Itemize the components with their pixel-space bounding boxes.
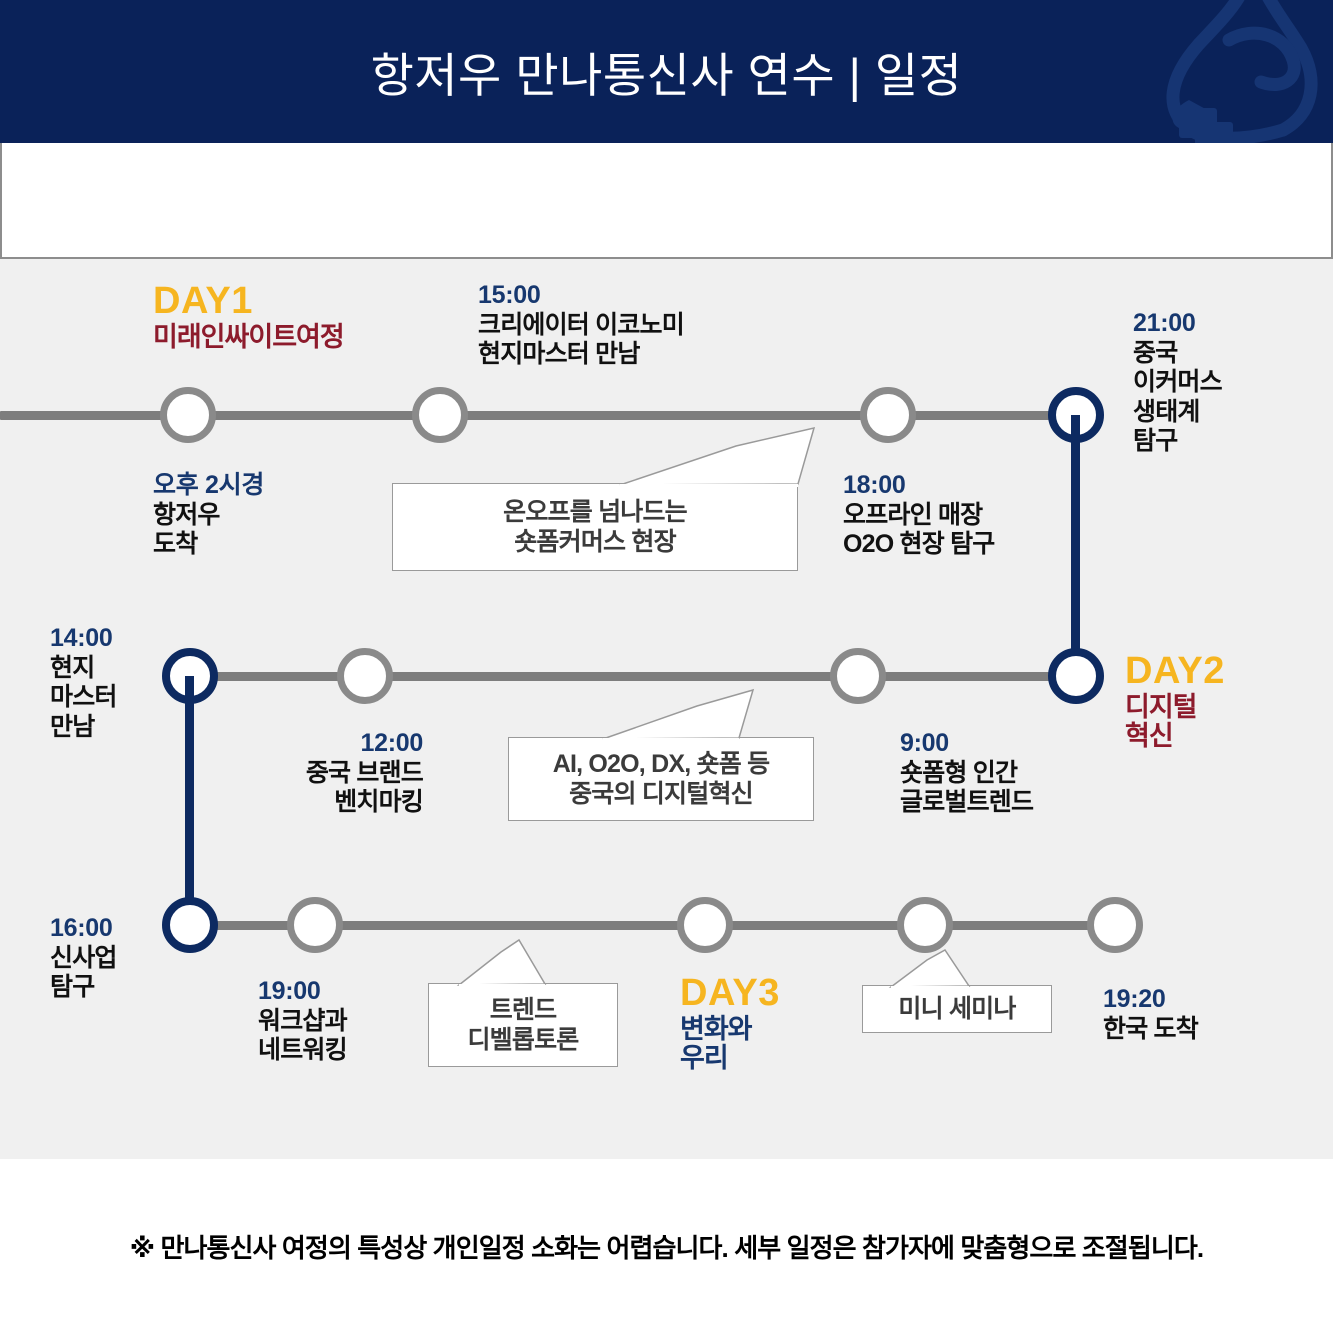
event-desc-line: 항저우 xyxy=(153,501,264,531)
page-title: 항저우 만나통신사 연수 | 일정 xyxy=(0,0,1333,143)
connector-row1-row2 xyxy=(1071,415,1080,676)
event-time: 21:00 xyxy=(1133,309,1222,339)
day2-subtitle-line1: 디지털 xyxy=(1125,693,1225,723)
event-desc-line: 중국 브랜드 xyxy=(155,759,423,789)
event-block-e4: 21:00 중국 이커머스 생태계 탐구 xyxy=(1133,309,1222,457)
row3-node-2[interactable] xyxy=(287,897,343,953)
footer-note: ※ 만나통신사 여정의 특성상 개인일정 소화는 어렵습니다. 세부 일정은 참… xyxy=(130,1228,1203,1265)
callout-c2: AI, O2O, DX, 숏폼 등 중국의 디지털혁신 xyxy=(508,737,814,821)
event-desc-line: 글로벌트렌드 xyxy=(900,788,1033,818)
day3-label: DAY3 변화와 우리 xyxy=(680,973,780,1074)
event-desc-line: 도착 xyxy=(153,530,264,560)
timeline-canvas: DAY1 미래인싸이트여정 오후 2시경 항저우 도착 15:00 크리에이터 … xyxy=(0,259,1333,1159)
event-block-e7: 9:00 숏폼형 인간 글로벌트렌드 xyxy=(900,729,1033,818)
event-desc-line: 중국 xyxy=(1133,339,1222,369)
event-time: 16:00 xyxy=(50,914,117,944)
header-spacer-band xyxy=(0,143,1333,259)
callout-c1: 온오프를 넘나드는 숏폼커머스 현장 xyxy=(392,483,798,571)
row2-node-4[interactable] xyxy=(1048,648,1104,704)
day3-subtitle-line2: 우리 xyxy=(680,1044,780,1074)
row1-node-2[interactable] xyxy=(412,387,468,443)
event-time: 오후 2시경 xyxy=(153,471,264,501)
event-desc-line: 벤치마킹 xyxy=(155,788,423,818)
day1-number: DAY1 xyxy=(153,281,344,323)
row3-node-5[interactable] xyxy=(1087,897,1143,953)
event-block-e2: 15:00 크리에이터 이코노미 현지마스터 만남 xyxy=(478,281,684,370)
event-time: 9:00 xyxy=(900,729,1033,759)
day3-subtitle-line1: 변화와 xyxy=(680,1015,780,1045)
event-desc-line: 신사업 xyxy=(50,944,117,974)
page-header: 항저우 만나통신사 연수 | 일정 xyxy=(0,0,1333,143)
row1-node-1[interactable] xyxy=(160,387,216,443)
day3-number: DAY3 xyxy=(680,973,780,1015)
event-time: 19:00 xyxy=(258,977,347,1007)
event-desc-line: 생태계 xyxy=(1133,398,1222,428)
event-desc-line: 숏폼형 인간 xyxy=(900,759,1033,789)
event-time: 19:20 xyxy=(1103,985,1198,1015)
event-desc-line: 탐구 xyxy=(50,973,117,1003)
event-desc-line: 탐구 xyxy=(1133,427,1222,457)
callout-text: 트렌드 디벨롭토론 xyxy=(467,995,578,1056)
callout-tail-icon xyxy=(618,428,823,486)
row2-track xyxy=(190,672,1076,681)
day2-label: DAY2 디지털 혁신 xyxy=(1125,651,1225,752)
callout-c4: 미니 세미나 xyxy=(862,985,1052,1033)
page-footer: ※ 만나통신사 여정의 특성상 개인일정 소화는 어렵습니다. 세부 일정은 참… xyxy=(0,1159,1333,1333)
callout-text: AI, O2O, DX, 숏폼 등 중국의 디지털혁신 xyxy=(553,749,770,810)
row3-node-3[interactable] xyxy=(677,897,733,953)
event-block-e6: 12:00 중국 브랜드 벤치마킹 xyxy=(155,729,423,818)
event-time: 15:00 xyxy=(478,281,684,311)
row3-node-1[interactable] xyxy=(162,897,218,953)
day1-subtitle: 미래인싸이트여정 xyxy=(153,323,344,353)
event-desc-line: 네트워킹 xyxy=(258,1036,347,1066)
event-desc-line: 마스터 xyxy=(50,683,117,713)
row1-node-3[interactable] xyxy=(860,387,916,443)
event-block-e9: 19:00 워크샵과 네트워킹 xyxy=(258,977,347,1066)
day2-number: DAY2 xyxy=(1125,651,1225,693)
event-desc-line: 현지 xyxy=(50,654,117,684)
event-desc-line: 만남 xyxy=(50,713,117,743)
event-block-e1: 오후 2시경 항저우 도착 xyxy=(153,471,264,560)
event-desc-line: 워크샵과 xyxy=(258,1007,347,1037)
event-block-e3: 18:00 오프라인 매장 O2O 현장 탐구 xyxy=(843,471,995,560)
event-desc-line: 이커머스 xyxy=(1133,368,1222,398)
row2-node-2[interactable] xyxy=(337,648,393,704)
event-time: 18:00 xyxy=(843,471,995,501)
day1-label: DAY1 미래인싸이트여정 xyxy=(153,281,344,352)
event-block-e5: 14:00 현지 마스터 만남 xyxy=(50,624,117,742)
schedule-infographic: 항저우 만나통신사 연수 | 일정 DAY1 미래인싸이트여정 오후 2시경 항… xyxy=(0,0,1333,1333)
callout-tail-icon xyxy=(601,690,771,740)
event-block-e10: 19:20 한국 도착 xyxy=(1103,985,1198,1044)
event-desc-line: 크리에이터 이코노미 xyxy=(478,311,684,341)
event-block-e8: 16:00 신사업 탐구 xyxy=(50,914,117,1003)
event-time: 12:00 xyxy=(155,729,423,759)
callout-text: 온오프를 넘나드는 숏폼커머스 현장 xyxy=(503,497,687,558)
event-desc-line: 한국 도착 xyxy=(1103,1015,1198,1045)
event-desc-line: O2O 현장 탐구 xyxy=(843,530,995,560)
event-desc-line: 현지마스터 만남 xyxy=(478,340,684,370)
callout-c3: 트렌드 디벨롭토론 xyxy=(428,983,618,1067)
callout-tail-icon xyxy=(457,940,557,986)
day2-subtitle-line2: 혁신 xyxy=(1125,722,1225,752)
row3-node-4[interactable] xyxy=(897,897,953,953)
callout-text: 미니 세미나 xyxy=(898,994,1015,1025)
callout-tail-icon xyxy=(889,950,985,988)
row2-node-3[interactable] xyxy=(830,648,886,704)
event-time: 14:00 xyxy=(50,624,117,654)
event-desc-line: 오프라인 매장 xyxy=(843,501,995,531)
